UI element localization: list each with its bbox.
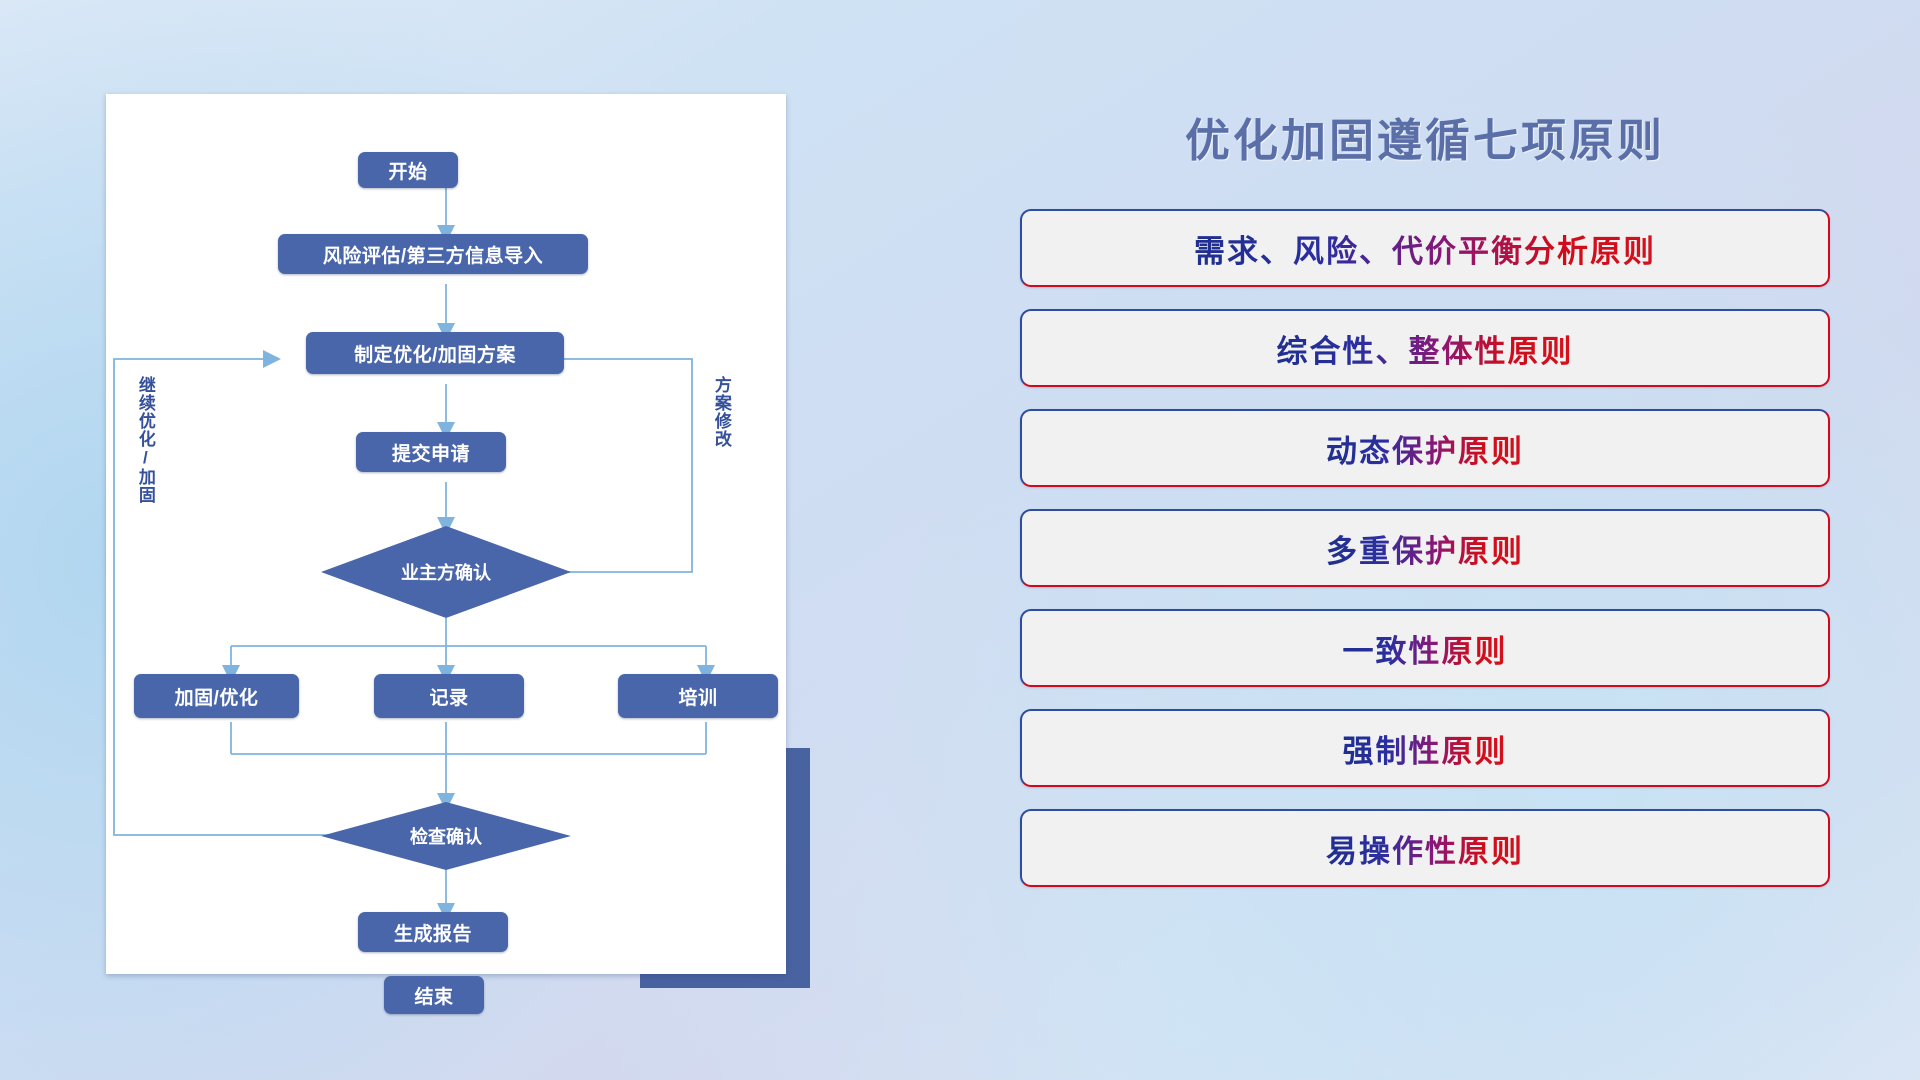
principle-card-7-label: 易操作性原则 [1326, 826, 1524, 871]
principle-card-1-label: 需求、风险、代价平衡分析原则 [1194, 226, 1656, 271]
principles-panel: 优化加固遵循七项原则 需求、风险、代价平衡分析原则 综合性、整体性原则 动态保护… [1020, 104, 1830, 1004]
flow-node-submit[interactable]: 提交申请 [356, 432, 506, 472]
flow-node-risk-assessment[interactable]: 风险评估/第三方信息导入 [278, 234, 588, 274]
flow-node-reinforce[interactable]: 加固/优化 [134, 674, 299, 718]
principle-card-5[interactable]: 一致性原则 [1020, 609, 1830, 687]
flow-node-training-label: 培训 [678, 683, 717, 710]
flow-node-plan[interactable]: 制定优化/加固方案 [306, 332, 564, 374]
principle-card-3[interactable]: 动态保护原则 [1020, 409, 1830, 487]
flow-edge-label-continue-optimize: 继续优化/加固 [136, 376, 154, 504]
flow-node-plan-label: 制定优化/加固方案 [354, 340, 516, 367]
flow-node-check-confirm-label: 检查确认 [410, 823, 482, 849]
principle-card-6[interactable]: 强制性原则 [1020, 709, 1830, 787]
flow-node-start-label: 开始 [388, 157, 427, 184]
flow-node-start[interactable]: 开始 [358, 152, 458, 188]
principle-card-6-label: 强制性原则 [1343, 726, 1508, 771]
principle-card-4-label: 多重保护原则 [1326, 526, 1524, 571]
flow-node-risk-assessment-label: 风险评估/第三方信息导入 [323, 241, 543, 268]
flow-node-record[interactable]: 记录 [374, 674, 524, 718]
flow-node-end[interactable]: 结束 [384, 976, 484, 1014]
flow-node-owner-confirm-label: 业主方确认 [401, 559, 491, 585]
flow-node-record-label: 记录 [429, 683, 468, 710]
flow-node-report[interactable]: 生成报告 [358, 912, 508, 952]
flow-edge-label-plan-revision: 方案修改 [712, 376, 730, 448]
principle-card-2-label: 综合性、整体性原则 [1277, 326, 1574, 371]
flowchart-card: 开始 风险评估/第三方信息导入 制定优化/加固方案 提交申请 业主方确认 加固/… [106, 94, 786, 974]
principle-card-4[interactable]: 多重保护原则 [1020, 509, 1830, 587]
flow-node-report-label: 生成报告 [394, 919, 472, 946]
flow-node-submit-label: 提交申请 [392, 439, 470, 466]
flow-node-end-label: 结束 [414, 982, 453, 1009]
principle-card-5-label: 一致性原则 [1343, 626, 1508, 671]
principles-title: 优化加固遵循七项原则 [1020, 104, 1830, 169]
flow-node-training[interactable]: 培训 [618, 674, 778, 718]
principle-card-3-label: 动态保护原则 [1326, 426, 1524, 471]
principle-card-7[interactable]: 易操作性原则 [1020, 809, 1830, 887]
flow-node-reinforce-label: 加固/优化 [175, 683, 259, 710]
principle-card-2[interactable]: 综合性、整体性原则 [1020, 309, 1830, 387]
principle-card-1[interactable]: 需求、风险、代价平衡分析原则 [1020, 209, 1830, 287]
